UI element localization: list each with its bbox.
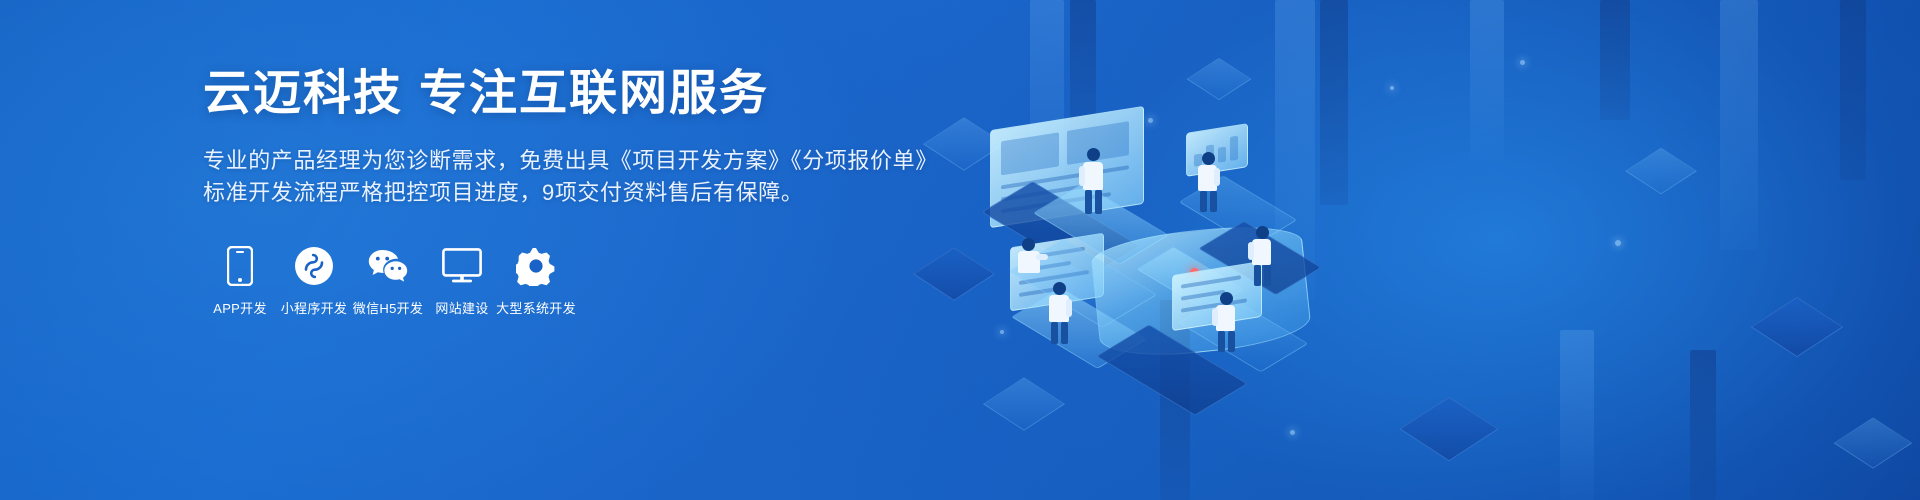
deco-document-panel xyxy=(1010,233,1104,312)
deco-bar xyxy=(1030,0,1064,230)
deco-cube xyxy=(1625,148,1697,195)
deco-person xyxy=(1018,238,1048,284)
deco-glow-dot xyxy=(1148,118,1153,123)
headline-tagline: 专注互联网服务 xyxy=(419,67,769,120)
deco-chart-card xyxy=(1186,123,1248,177)
deco-platform xyxy=(1011,287,1147,369)
deco-dashboard-screen xyxy=(990,106,1144,228)
deco-cube xyxy=(1399,397,1498,462)
service-label: 小程序开发 xyxy=(281,301,348,317)
service-item-app[interactable]: APP开发 xyxy=(203,245,277,317)
service-item-wechat-h5[interactable]: 微信H5开发 xyxy=(351,245,425,317)
deco-bar xyxy=(1840,0,1866,180)
subtitle-line-1: 专业的产品经理为您诊断需求，免费出具《项目开发方案》《分项报价单》 xyxy=(203,145,1003,177)
deco-ribbon-marker xyxy=(1190,268,1199,277)
deco-data-ribbon xyxy=(1089,219,1313,362)
service-item-large-system[interactable]: 大型系统开发 xyxy=(499,245,573,317)
gear-icon xyxy=(515,245,557,287)
deco-bar xyxy=(1600,0,1630,120)
deco-person xyxy=(1078,148,1108,214)
deco-glow-dot xyxy=(1615,240,1621,246)
deco-bar xyxy=(1275,0,1315,300)
service-item-mini-program[interactable]: 小程序开发 xyxy=(277,245,351,317)
service-list: APP开发 小程序开发 xyxy=(203,245,1003,317)
wechat-icon xyxy=(367,245,409,287)
deco-platform xyxy=(1033,183,1169,265)
deco-glow-dot xyxy=(1520,60,1525,65)
service-item-website[interactable]: 网站建设 xyxy=(425,245,499,317)
page-title: 云迈科技专注互联网服务 xyxy=(203,66,1003,121)
hero-banner: 云迈科技专注互联网服务 专业的产品经理为您诊断需求，免费出具《项目开发方案》《分… xyxy=(0,0,1920,500)
deco-bar xyxy=(1690,350,1716,500)
deco-screen-base xyxy=(981,181,1140,277)
service-label: 大型系统开发 xyxy=(496,301,576,317)
deco-bar xyxy=(1160,300,1190,500)
deco-cube xyxy=(983,377,1065,430)
deco-bar xyxy=(1560,330,1594,500)
deco-glow-dot xyxy=(1390,86,1394,90)
subtitle-block: 专业的产品经理为您诊断需求，免费出具《项目开发方案》《分项报价单》 标准开发流程… xyxy=(203,145,1003,209)
deco-bar xyxy=(1470,0,1504,160)
deco-person xyxy=(1212,292,1240,352)
service-label: 微信H5开发 xyxy=(353,301,423,317)
deco-glow-dot xyxy=(1290,430,1295,435)
deco-bar xyxy=(1320,0,1348,205)
subtitle-line-2: 标准开发流程严格把控项目进度，9项交付资料售后有保障。 xyxy=(203,177,1003,209)
monitor-icon xyxy=(441,245,483,287)
deco-cube xyxy=(1834,417,1913,468)
deco-platform xyxy=(1198,221,1322,295)
deco-cube xyxy=(1751,297,1844,357)
deco-bar xyxy=(1070,0,1096,150)
deco-code-window xyxy=(1172,261,1262,331)
banner-content: 云迈科技专注互联网服务 专业的产品经理为您诊断需求，免费出具《项目开发方案》《分… xyxy=(203,66,1003,317)
deco-platform xyxy=(1178,294,1309,373)
deco-cube xyxy=(1186,58,1251,100)
deco-platform xyxy=(1009,238,1157,327)
service-label: 网站建设 xyxy=(435,301,488,317)
mobile-phone-icon xyxy=(219,245,261,287)
deco-bar xyxy=(1720,0,1758,250)
mini-program-icon xyxy=(293,245,335,287)
deco-person xyxy=(1044,282,1074,344)
deco-person xyxy=(1194,152,1222,212)
deco-platform xyxy=(1096,324,1248,415)
deco-person xyxy=(1248,226,1276,286)
deco-glow-dot xyxy=(1000,330,1004,334)
deco-platform xyxy=(1179,175,1297,246)
service-label: APP开发 xyxy=(213,301,267,317)
headline-brand: 云迈科技 xyxy=(203,67,403,120)
deco-ribbon-highlight xyxy=(1136,247,1244,312)
